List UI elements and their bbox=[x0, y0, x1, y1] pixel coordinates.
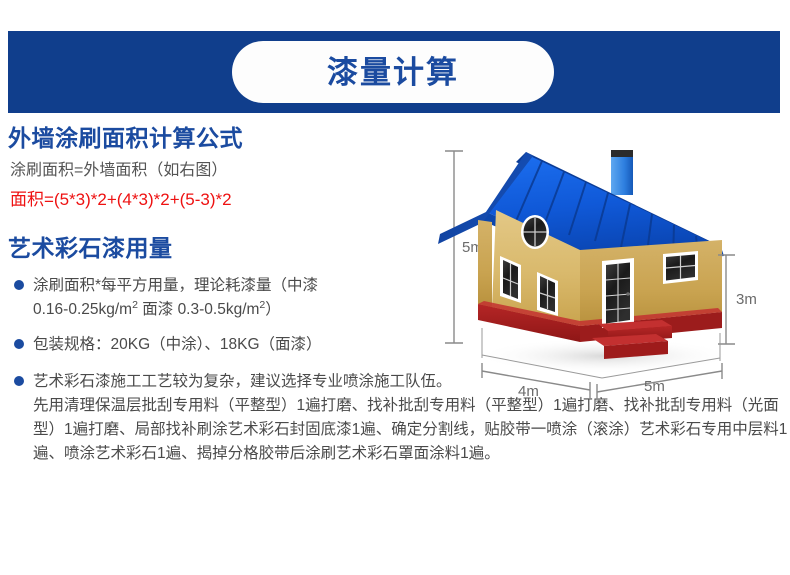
dimension-height-left bbox=[445, 151, 463, 343]
facade-window-right bbox=[663, 251, 698, 284]
dimension-label-4m-width: 4m bbox=[518, 383, 539, 400]
coverage-close-paren: ） bbox=[265, 301, 281, 318]
dimension-label-5m-width: 5m bbox=[644, 378, 665, 395]
bullet-dot-icon bbox=[14, 280, 24, 290]
coverage-top-range: 面漆 0.3-0.5kg/m bbox=[138, 301, 259, 318]
bullet-dot-icon bbox=[14, 339, 24, 349]
entry-steps bbox=[592, 320, 672, 359]
left-wall bbox=[478, 220, 492, 308]
front-door bbox=[602, 258, 634, 328]
door-knob bbox=[626, 292, 630, 296]
house-illustration: 5m bbox=[430, 128, 790, 413]
page-title: 漆量计算 bbox=[327, 57, 459, 88]
dimension-label-3m-height: 3m bbox=[736, 291, 757, 308]
chimney bbox=[611, 150, 633, 195]
bullet-dot-icon bbox=[14, 376, 24, 386]
bullet-packaging-text: 包装规格：20KG（中涂）、18KG（面漆） bbox=[33, 336, 322, 353]
bullet-process-lead: 艺术彩石漆施工工艺较为复杂，建议选择专业喷涂施工队伍。 bbox=[33, 373, 452, 390]
coverage-mid-range: 0.16-0.25kg/m bbox=[33, 301, 132, 318]
paint-calculation-page: 漆量计算 外墙涂刷面积计算公式 涂刷面积=外墙面积（如右图） 面积=(5*3)*… bbox=[0, 0, 790, 575]
bullet-coverage-line1: 涂刷面积*每平方用量，理论耗漆量（中漆 bbox=[33, 277, 318, 294]
header-title-pill: 漆量计算 bbox=[232, 41, 554, 103]
